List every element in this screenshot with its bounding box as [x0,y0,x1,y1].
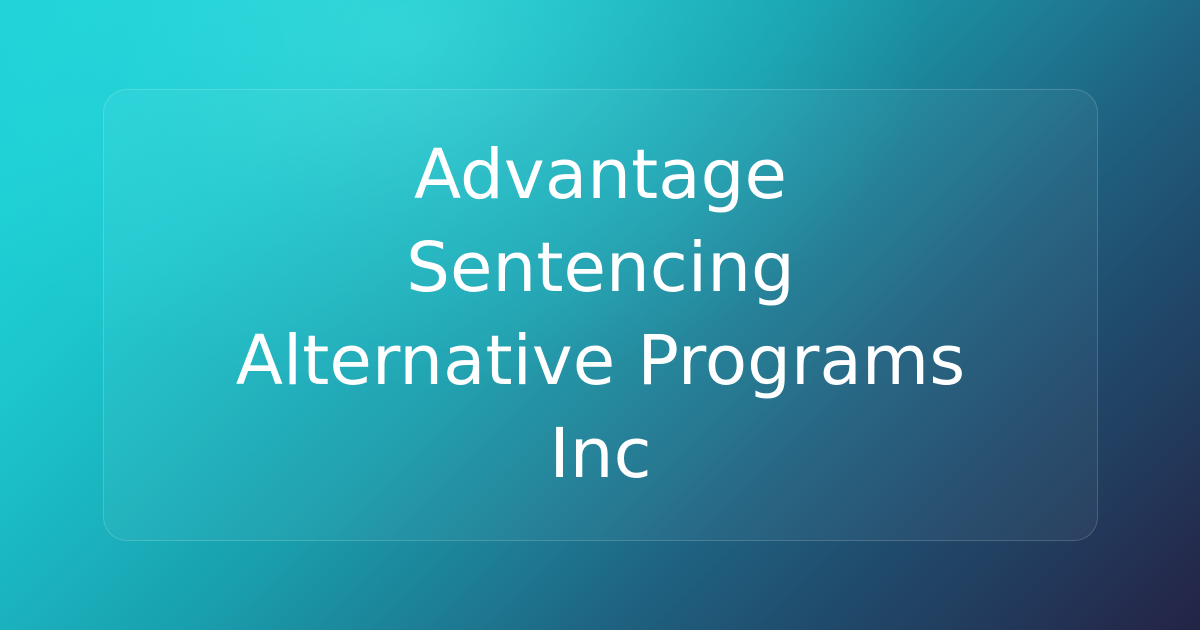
og-preview-card: Advantage Sentencing Alternative Program… [0,0,1200,630]
title-panel: Advantage Sentencing Alternative Program… [103,89,1098,541]
title-line-4: Inc [128,408,1073,501]
page-title: Advantage Sentencing Alternative Program… [104,129,1097,501]
title-line-1: Advantage [128,129,1073,222]
title-line-3: Alternative Programs [128,315,1073,408]
title-line-2: Sentencing [128,222,1073,315]
